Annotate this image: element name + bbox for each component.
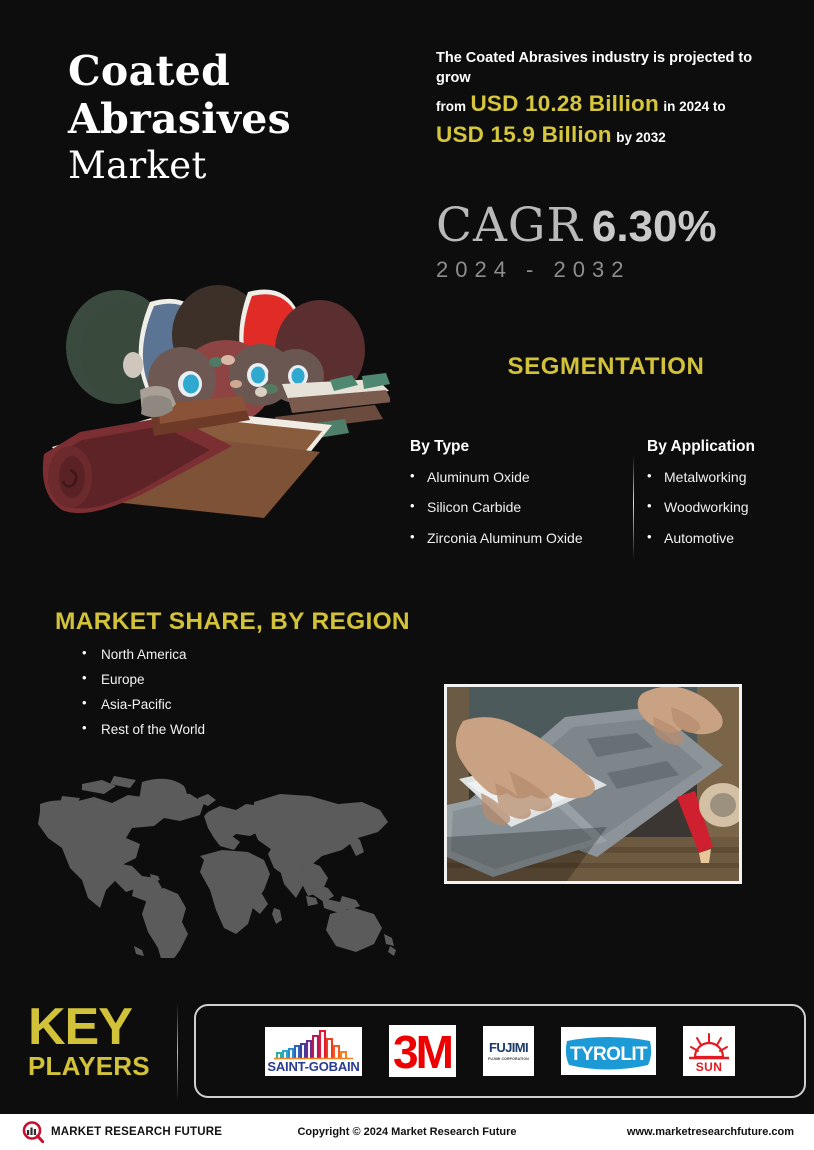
sanding-photo xyxy=(444,684,742,884)
key-players-logo-box: SAINT-GOBAIN 3M FUJIMI FUJIMI CORPORATIO… xyxy=(194,1004,806,1098)
region-item: Europe xyxy=(82,672,205,689)
logo-fujimi: FUJIMI FUJIMI CORPORATION xyxy=(483,1026,534,1076)
infographic-canvas: Coated Abrasives Market xyxy=(0,0,814,1150)
svg-text:3M: 3M xyxy=(393,1026,452,1077)
segmentation-divider xyxy=(633,455,634,560)
logo-tyrolit: TYROLIT xyxy=(561,1027,656,1075)
title-line-1: Coated xyxy=(68,48,398,96)
svg-text:FUJIMI CORPORATION: FUJIMI CORPORATION xyxy=(488,1057,529,1061)
footer-url[interactable]: www.marketresearchfuture.com xyxy=(627,1126,794,1138)
key-players-title-bottom: PLAYERS xyxy=(28,1053,173,1080)
cagr-row: CAGR6.30% xyxy=(436,198,776,253)
cagr-block: CAGR6.30% 2024 - 2032 xyxy=(436,198,776,283)
headline-line-3: USD 15.9 Billion by 2032 xyxy=(436,119,786,150)
title-line-3: Market xyxy=(68,144,398,187)
coated-abrasives-illustration xyxy=(30,272,390,522)
segmentation-columns: By Type Aluminum Oxide Silicon Carbide Z… xyxy=(410,438,800,561)
segmentation-item: Aluminum Oxide xyxy=(410,470,625,485)
segmentation-item: Woodworking xyxy=(647,500,807,515)
key-players-heading: KEY PLAYERS xyxy=(28,1003,173,1080)
world-map xyxy=(22,768,422,958)
headline-from-label: from xyxy=(436,99,466,114)
footer-bar: MARKET RESEARCH FUTURE Copyright © 2024 … xyxy=(0,1114,814,1150)
cagr-label: CAGR xyxy=(436,198,583,253)
headline-value-2032: USD 15.9 Billion xyxy=(436,122,612,147)
segmentation-column-by-type: By Type Aluminum Oxide Silicon Carbide Z… xyxy=(410,438,625,561)
svg-text:FUJIMI: FUJIMI xyxy=(489,1040,528,1055)
headline-line-2: from USD 10.28 Billion in 2024 to xyxy=(436,88,786,119)
market-share-title: MARKET SHARE, BY REGION xyxy=(55,608,410,636)
region-item: Asia-Pacific xyxy=(82,697,205,714)
segmentation-item: Metalworking xyxy=(647,470,807,485)
cagr-value: 6.30% xyxy=(592,202,717,251)
svg-text:SAINT-GOBAIN: SAINT-GOBAIN xyxy=(267,1059,359,1074)
segmentation-item: Zirconia Aluminum Oxide xyxy=(410,531,625,546)
key-players-title-top: KEY xyxy=(28,1003,173,1053)
segmentation-item: Automotive xyxy=(647,531,807,546)
headline-end-label: by 2032 xyxy=(616,130,666,145)
segmentation-heading-type: By Type xyxy=(410,438,625,456)
headline-statement: The Coated Abrasives industry is project… xyxy=(436,48,786,150)
svg-text:TYROLIT: TYROLIT xyxy=(570,1044,648,1065)
key-players-divider xyxy=(177,1003,178,1101)
segmentation-title: SEGMENTATION xyxy=(436,353,776,381)
logo-saint-gobain: SAINT-GOBAIN xyxy=(265,1027,362,1076)
cagr-period: 2024 - 2032 xyxy=(436,257,776,283)
logo-sun: SUN xyxy=(683,1026,735,1076)
title-line-2: Abrasives xyxy=(68,96,398,144)
segmentation-item: Silicon Carbide xyxy=(410,500,625,515)
region-item: North America xyxy=(82,647,205,664)
headline-line-1: The Coated Abrasives industry is project… xyxy=(436,48,786,88)
region-item: Rest of the World xyxy=(82,722,205,739)
page-title: Coated Abrasives Market xyxy=(68,48,398,187)
segmentation-heading-application: By Application xyxy=(647,438,807,456)
segmentation-column-by-application: By Application Metalworking Woodworking … xyxy=(625,438,807,561)
logo-3m: 3M xyxy=(389,1025,456,1077)
market-share-region-list: North America Europe Asia-Pacific Rest o… xyxy=(82,647,205,747)
headline-mid-label: in 2024 to xyxy=(663,99,725,114)
headline-value-2024: USD 10.28 Billion xyxy=(470,91,658,116)
svg-text:SUN: SUN xyxy=(696,1060,723,1074)
